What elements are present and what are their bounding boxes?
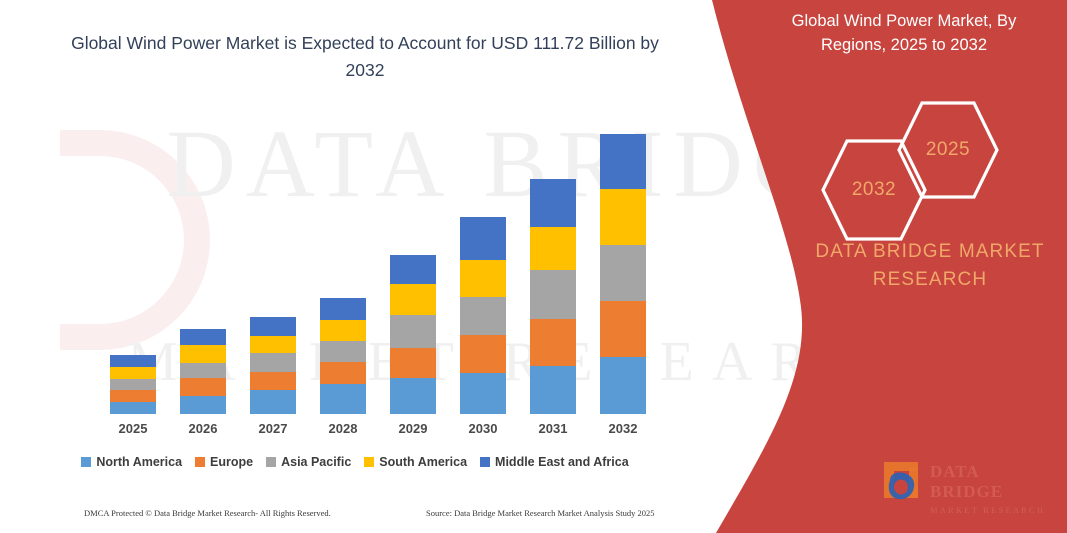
bar-segment-2032-europe[interactable] (600, 301, 646, 357)
legend-swatch-icon (364, 457, 374, 467)
bar-2028[interactable] (320, 298, 366, 414)
bar-segment-2026-europe[interactable] (180, 378, 226, 396)
legend-item-europe[interactable]: Europe (195, 455, 253, 469)
stacked-bar-chart: 20252026202720282029203020312032 (0, 0, 710, 533)
bar-segment-2028-south-america[interactable] (320, 320, 366, 341)
bar-segment-2031-europe[interactable] (530, 319, 576, 366)
bar-2027[interactable] (250, 317, 296, 415)
x-axis-label-2026: 2026 (168, 421, 238, 436)
infographic-canvas: DATA BRIDGE MARKET RESEARCH Global Wind … (0, 0, 1067, 533)
bar-segment-2029-north-america[interactable] (390, 378, 436, 414)
bar-segment-2031-middle-east-and-africa[interactable] (530, 179, 576, 227)
legend-item-south-america[interactable]: South America (364, 455, 467, 469)
x-axis-label-2029: 2029 (378, 421, 448, 436)
bar-segment-2031-south-america[interactable] (530, 227, 576, 270)
x-axis-label-2025: 2025 (98, 421, 168, 436)
brand-text: DATA BRIDGE MARKET RESEARCH (790, 238, 1067, 293)
bar-segment-2026-south-america[interactable] (180, 345, 226, 363)
x-axis-label-2028: 2028 (308, 421, 378, 436)
hexagon-2025: 2025 (896, 100, 1000, 200)
bar-segment-2029-middle-east-and-africa[interactable] (390, 255, 436, 284)
bar-segment-2028-asia-pacific[interactable] (320, 341, 366, 362)
bar-segment-2025-europe[interactable] (110, 390, 156, 402)
bar-segment-2027-north-america[interactable] (250, 390, 296, 414)
legend-label: South America (379, 455, 467, 469)
bar-segment-2028-middle-east-and-africa[interactable] (320, 298, 366, 321)
bar-segment-2025-asia-pacific[interactable] (110, 379, 156, 390)
logo-sub-text: MARKET RESEARCH (930, 505, 1056, 515)
footer-source: Source: Data Bridge Market Research Mark… (426, 508, 655, 518)
bar-segment-2031-north-america[interactable] (530, 366, 576, 414)
x-axis-label-2032: 2032 (588, 421, 658, 436)
bar-segment-2032-north-america[interactable] (600, 357, 646, 414)
brand-line-1: DATA BRIDGE MARKET (790, 238, 1067, 266)
bar-segment-2026-north-america[interactable] (180, 396, 226, 414)
legend-swatch-icon (81, 457, 91, 467)
legend-item-north-america[interactable]: North America (81, 455, 182, 469)
bar-segment-2027-europe[interactable] (250, 372, 296, 390)
legend-label: North America (96, 455, 182, 469)
bar-2031[interactable] (530, 179, 576, 414)
legend-item-asia-pacific[interactable]: Asia Pacific (266, 455, 351, 469)
hexagon-2032-label: 2032 (852, 179, 896, 201)
bar-2026[interactable] (180, 329, 226, 414)
bar-segment-2026-asia-pacific[interactable] (180, 363, 226, 378)
legend-swatch-icon (266, 457, 276, 467)
x-axis-labels: 20252026202720282029203020312032 (0, 421, 710, 443)
x-axis-label-2030: 2030 (448, 421, 518, 436)
logo-b-icon (878, 458, 936, 504)
bar-2029[interactable] (390, 255, 436, 414)
bar-segment-2029-south-america[interactable] (390, 284, 436, 315)
logo-main-text: DATA BRIDGE (930, 462, 1056, 502)
logo-text: DATA BRIDGE MARKET RESEARCH (930, 462, 1056, 515)
panel-title: Global Wind Power Market, By Regions, 20… (769, 10, 1039, 58)
bar-segment-2027-middle-east-and-africa[interactable] (250, 317, 296, 337)
legend-swatch-icon (480, 457, 490, 467)
legend-label: Europe (210, 455, 253, 469)
footer: DMCA Protected © Data Bridge Market Rese… (0, 505, 710, 525)
bar-2032[interactable] (600, 134, 646, 414)
bar-segment-2032-asia-pacific[interactable] (600, 245, 646, 301)
bar-segment-2030-south-america[interactable] (460, 260, 506, 297)
bar-segment-2027-south-america[interactable] (250, 336, 296, 353)
bar-segment-2027-asia-pacific[interactable] (250, 353, 296, 372)
data-bridge-logo: DATA BRIDGE MARKET RESEARCH (878, 458, 1056, 506)
brand-line-2: RESEARCH (790, 266, 1067, 294)
bar-segment-2025-middle-east-and-africa[interactable] (110, 355, 156, 367)
x-axis-label-2031: 2031 (518, 421, 588, 436)
bar-segment-2032-south-america[interactable] (600, 189, 646, 245)
x-axis-label-2027: 2027 (238, 421, 308, 436)
bar-segment-2025-south-america[interactable] (110, 367, 156, 379)
chart-legend: North AmericaEuropeAsia PacificSouth Ame… (0, 455, 710, 469)
legend-swatch-icon (195, 457, 205, 467)
bar-segment-2032-middle-east-and-africa[interactable] (600, 134, 646, 189)
footer-dmca: DMCA Protected © Data Bridge Market Rese… (84, 508, 331, 518)
bar-segment-2028-north-america[interactable] (320, 384, 366, 414)
bar-2025[interactable] (110, 355, 156, 414)
legend-label: Middle East and Africa (495, 455, 629, 469)
bar-segment-2030-north-america[interactable] (460, 373, 506, 414)
bar-segment-2029-asia-pacific[interactable] (390, 315, 436, 348)
bar-segment-2026-middle-east-and-africa[interactable] (180, 329, 226, 345)
bar-segment-2029-europe[interactable] (390, 348, 436, 378)
bar-2030[interactable] (460, 217, 506, 414)
bar-segment-2030-europe[interactable] (460, 335, 506, 373)
hexagon-2025-label: 2025 (926, 139, 970, 161)
legend-label: Asia Pacific (281, 455, 351, 469)
bar-segment-2028-europe[interactable] (320, 362, 366, 384)
bar-segment-2030-middle-east-and-africa[interactable] (460, 217, 506, 260)
bar-segment-2025-north-america[interactable] (110, 402, 156, 414)
bar-segment-2030-asia-pacific[interactable] (460, 297, 506, 335)
legend-item-middle-east-and-africa[interactable]: Middle East and Africa (480, 455, 629, 469)
bar-segment-2031-asia-pacific[interactable] (530, 270, 576, 319)
